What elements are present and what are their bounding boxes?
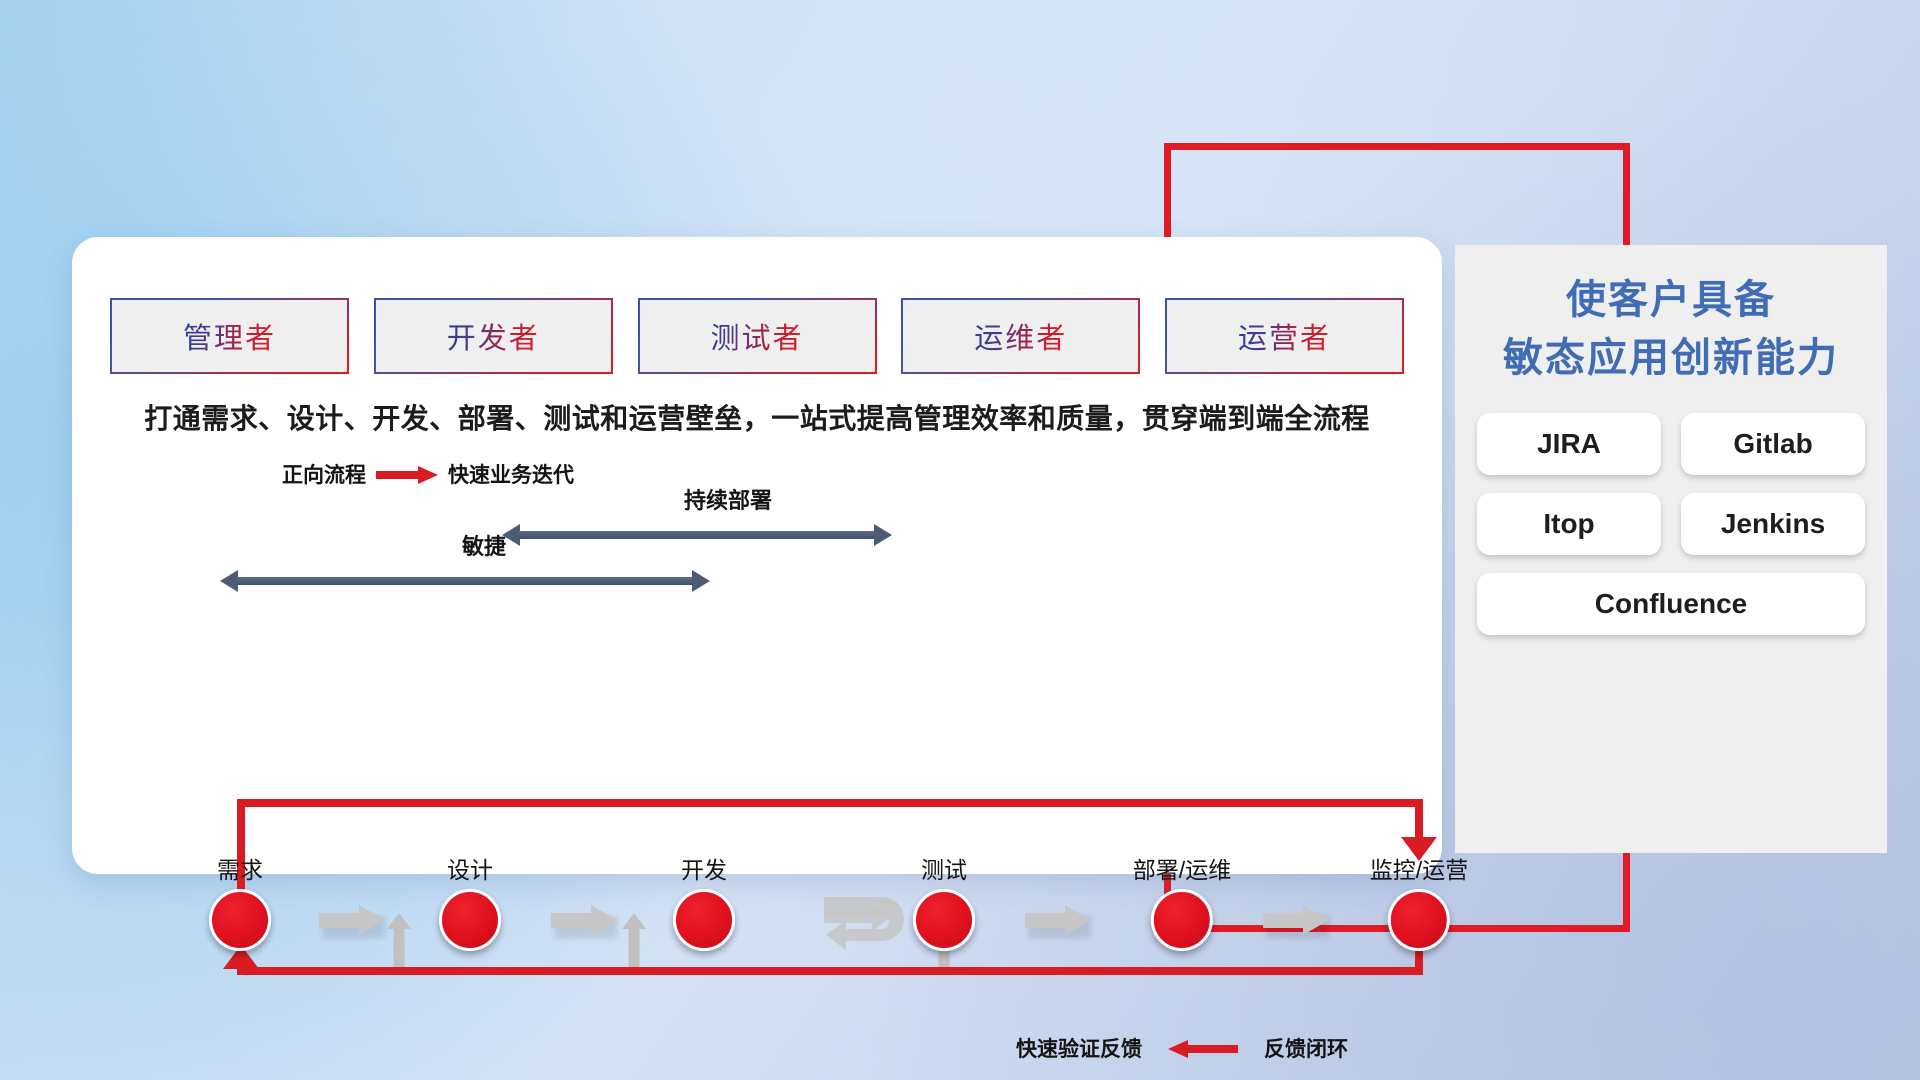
return-arrowhead-design-icon (387, 913, 411, 929)
main-content-card: 管理者 开发者 测试者 运维者 运营者 打通需求、设计、开发、部署、测试和运营壁… (72, 237, 1442, 874)
legend-feedback-left-label: 快速验证反馈 (1016, 1033, 1142, 1063)
stage-deploy-ops[interactable]: 部署/运维 (1133, 851, 1231, 951)
return-arrowhead-development-icon (622, 913, 646, 929)
tool-chip-confluence[interactable]: Confluence (1477, 573, 1865, 635)
slide-canvas: 管理者 开发者 测试者 运维者 运营者 打通需求、设计、开发、部署、测试和运营壁… (0, 0, 1920, 1080)
feedback-loop-bottom-line (237, 967, 1423, 975)
stage-testing[interactable]: 测试 (913, 851, 975, 951)
tool-chip-gitlab[interactable]: Gitlab (1681, 413, 1865, 475)
loopback-uturn-arrow-icon (824, 893, 916, 955)
tool-chip-itop[interactable]: Itop (1477, 493, 1661, 555)
panel-title: 使客户具备 敏态应用创新能力 (1477, 271, 1865, 387)
arrow-left-red-icon (1168, 1040, 1238, 1057)
stage-requirements[interactable]: 需求 (209, 851, 271, 951)
tool-chip-list: JIRA Gitlab Itop Jenkins Confluence (1477, 413, 1865, 635)
panel-title-line-1: 使客户具备 (1477, 271, 1865, 329)
stage-dot-icon (673, 889, 735, 951)
tool-chip-jira[interactable]: JIRA (1477, 413, 1661, 475)
process-stage-row: 需求 设计 开发 (72, 237, 1442, 874)
stage-dot-icon (913, 889, 975, 951)
stage-development[interactable]: 开发 (673, 851, 735, 951)
flow-arrow-icon-2 (551, 905, 617, 935)
legend-feedback-loop: 快速验证反馈 反馈闭环 (1016, 1033, 1348, 1063)
stage-label: 测试 (913, 851, 975, 885)
return-stem-design (394, 927, 405, 967)
panel-title-line-2: 敏态应用创新能力 (1477, 329, 1865, 387)
legend-feedback-right-label: 反馈闭环 (1264, 1033, 1348, 1063)
stage-monitor-operations[interactable]: 监控/运营 (1370, 851, 1468, 951)
stage-dot-icon (1151, 889, 1213, 951)
flow-arrow-icon-1 (319, 905, 385, 935)
flow-arrow-icon-4 (1263, 905, 1329, 935)
return-stem-development (629, 927, 640, 967)
flow-arrow-icon-3 (1025, 905, 1091, 935)
tool-chip-jenkins[interactable]: Jenkins (1681, 493, 1865, 555)
stage-label: 监控/运营 (1370, 851, 1468, 885)
stage-label: 开发 (673, 851, 735, 885)
stage-label: 需求 (209, 851, 271, 885)
toolchain-panel: 使客户具备 敏态应用创新能力 JIRA Gitlab Itop Jenkins … (1455, 245, 1887, 853)
stage-dot-icon (439, 889, 501, 951)
stage-dot-icon (1388, 889, 1450, 951)
stage-dot-icon (209, 889, 271, 951)
stage-design[interactable]: 设计 (439, 851, 501, 951)
stage-label: 设计 (439, 851, 501, 885)
stage-label: 部署/运维 (1133, 851, 1231, 885)
